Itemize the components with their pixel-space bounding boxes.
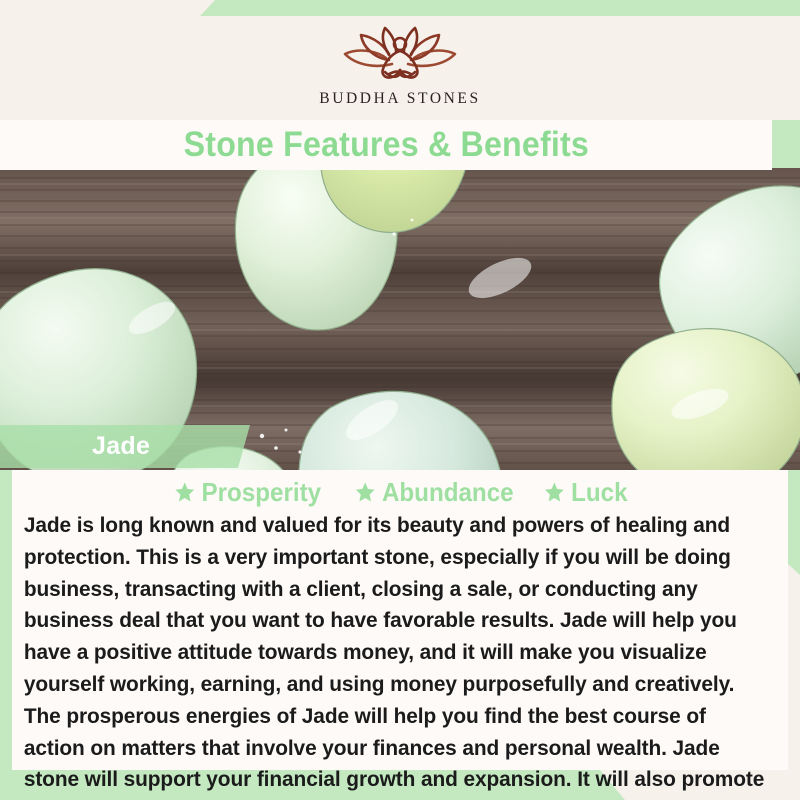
benefit-label: Luck <box>571 477 627 508</box>
section-title-banner: Stone Features & Benefits <box>0 120 772 170</box>
brand-name: BUDDHA STONES <box>319 90 480 108</box>
brand-header: BUDDHA STONES <box>0 16 800 120</box>
benefit-item: Luck <box>544 477 627 508</box>
stone-name-badge: Jade <box>0 425 250 468</box>
benefit-label: Prosperity <box>202 477 322 508</box>
benefits-row: Prosperity Abundance Luck <box>12 470 788 510</box>
content-panel: Prosperity Abundance Luck Jade is long k… <box>12 470 788 770</box>
star-icon <box>544 481 564 503</box>
description-paragraph: Jade is long known and valued for its be… <box>12 510 776 800</box>
infographic-card: BUDDHA STONES Stone Features & Benefits <box>0 0 800 800</box>
star-icon <box>355 481 375 503</box>
page-title: Stone Features & Benefits <box>183 125 588 165</box>
star-icon <box>175 481 195 503</box>
benefit-item: Abundance <box>355 477 514 508</box>
hero-image <box>0 168 800 470</box>
stone-name-label: Jade <box>92 432 150 461</box>
benefit-item: Prosperity <box>175 477 322 508</box>
benefit-label: Abundance <box>382 477 514 508</box>
decor-green-top-bar <box>0 0 800 16</box>
lotus-meditation-icon <box>329 24 471 86</box>
